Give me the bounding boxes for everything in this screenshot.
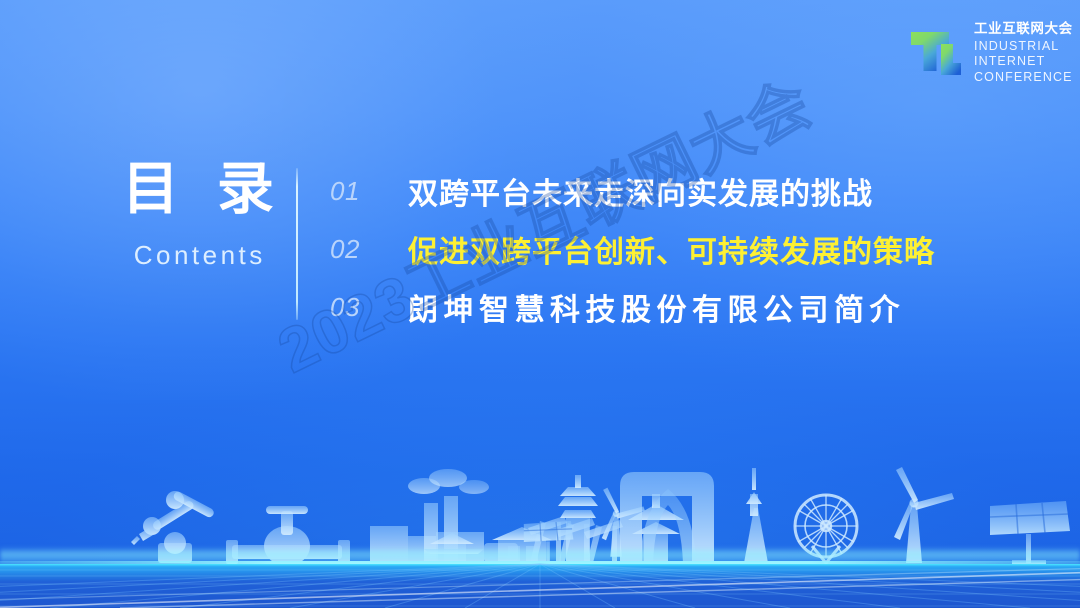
perspective-floor-grid: [0, 564, 1080, 608]
page-title: 目 录 Contents: [108, 160, 288, 271]
tall-pagoda-icon: [558, 475, 598, 563]
logo-title-en-line3: CONFERENCE: [974, 70, 1073, 86]
toc-item-label: 促进双跨平台创新、可持续发展的策略: [408, 227, 935, 271]
oil-pumpjacks-icon: [528, 516, 623, 567]
toc-item-number: 03: [330, 292, 408, 323]
presentation-slide: 工业互联网大会 INDUSTRIAL INTERNET CONFERENCE 目…: [0, 0, 1080, 608]
toc-item-02[interactable]: 02 促进双跨平台创新、可持续发展的策略: [330, 220, 950, 278]
gate-of-the-orient-icon: [620, 472, 714, 563]
toc-item-01[interactable]: 01 双跨平台未来走深向实发展的挑战: [330, 162, 950, 220]
conference-logo-text: 工业互联网大会 INDUSTRIAL INTERNET CONFERENCE: [974, 22, 1073, 86]
page-title-cn: 目 录: [108, 160, 288, 220]
robot-arm-icon: [131, 490, 215, 563]
pagoda-tower-icon: [210, 542, 254, 552]
logo-title-en-line2: INTERNET: [974, 54, 1073, 70]
wind-turbines-icon: [602, 467, 954, 563]
table-of-contents: 01 双跨平台未来走深向实发展的挑战 02 促进双跨平台创新、可持续发展的策略 …: [330, 162, 950, 336]
traditional-pavilion-icon: [424, 533, 484, 563]
industrial-city-skyline: [0, 448, 1080, 608]
industrial-internet-conference-logo-icon: [908, 25, 964, 83]
pavilion-icon: [152, 532, 208, 546]
page-title-en: Contents: [108, 240, 288, 271]
pipe-valve-icon: [226, 506, 350, 566]
solar-panels-icon: [524, 501, 1070, 567]
toc-item-label: 双跨平台未来走深向实发展的挑战: [408, 169, 873, 213]
logo-title-en-line1: INDUSTRIAL: [974, 39, 1073, 55]
chinese-pagoda-icon: [628, 494, 684, 563]
logo-title-en: INDUSTRIAL INTERNET CONFERENCE: [974, 39, 1073, 86]
horizon-glow: [0, 547, 1080, 563]
logo-title-cn: 工业互联网大会: [974, 22, 1073, 36]
conference-logo: 工业互联网大会 INDUSTRIAL INTERNET CONFERENCE: [908, 22, 1073, 86]
toc-item-label: 朗坤智慧科技股份有限公司简介: [408, 285, 905, 329]
background-glow-center: [0, 330, 1080, 608]
factory-smokestacks-icon: [370, 469, 518, 566]
toc-item-number: 01: [330, 176, 408, 207]
tv-tower-icon: [744, 468, 768, 563]
low-temple-icon: [492, 527, 552, 563]
toc-item-03[interactable]: 03 朗坤智慧科技股份有限公司简介: [330, 278, 950, 336]
ferris-wheel-icon: [795, 495, 857, 563]
title-divider: [296, 168, 298, 320]
skyline-silhouettes: [131, 469, 684, 567]
toc-item-number: 02: [330, 234, 408, 265]
